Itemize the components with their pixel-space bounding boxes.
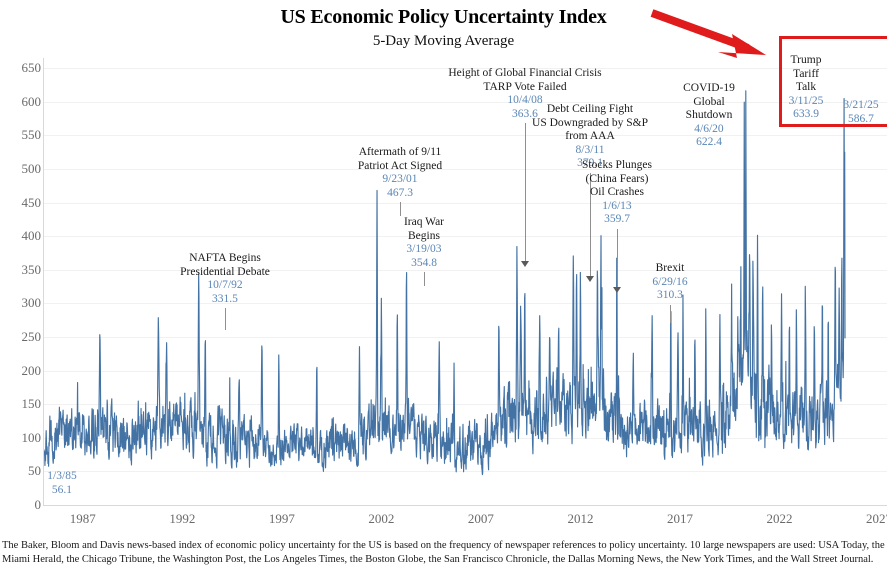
y-axis-tick-label: 350 <box>3 262 41 278</box>
annotation-label: COVID-19 <box>683 82 735 96</box>
annotation-stem <box>617 229 618 287</box>
annotation-label: Height of Global Financial Crisis <box>448 67 601 81</box>
annotation-arrowhead-icon <box>521 261 529 267</box>
annotation-label: Begins <box>404 230 444 244</box>
x-axis-tick-label: 1997 <box>269 511 295 527</box>
annotation-label: NAFTA Begins <box>180 252 270 266</box>
annotation-label: Stocks Plunges <box>582 159 652 173</box>
annotation-iraq-war-begins: Iraq WarBegins3/19/03354.8 <box>404 216 444 270</box>
x-axis-tick-label: 2007 <box>468 511 494 527</box>
y-axis-tick-label: 300 <box>3 295 41 311</box>
annotation-value: 354.8 <box>404 257 444 271</box>
annotation-covid-19-global-shutdown: COVID-19GlobalShutdown4/6/20622.4 <box>683 82 735 150</box>
x-axis-tick-label: 2017 <box>667 511 693 527</box>
annotation-date: 6/29/16 <box>652 276 687 290</box>
annotation-date: 9/23/01 <box>358 173 442 187</box>
annotation-stem <box>424 272 425 286</box>
annotation-stem <box>670 305 671 323</box>
annotation-stem <box>525 123 526 261</box>
annotation-stem <box>400 202 401 216</box>
y-axis-tick-label: 150 <box>3 396 41 412</box>
annotation-label: TARP Vote Failed <box>448 81 601 95</box>
annotation-stem <box>225 308 226 330</box>
annotation-arrowhead-icon <box>613 287 621 293</box>
y-axis-tick-label: 550 <box>3 127 41 143</box>
annotation-value: 467.3 <box>358 187 442 201</box>
annotation-value: 331.5 <box>180 293 270 307</box>
x-axis-tick-label: 1992 <box>169 511 195 527</box>
plot-area <box>43 58 887 505</box>
annotation-date: 8/3/11 <box>532 144 648 158</box>
y-axis-tick-label: 650 <box>3 60 41 76</box>
annotation-label: from AAA <box>532 130 648 144</box>
annotation-date: 1/3/85 <box>47 470 76 484</box>
annotation-label: (China Fears) <box>582 173 652 187</box>
y-axis-tick-label: 450 <box>3 195 41 211</box>
annotation-date: 3/19/03 <box>404 243 444 257</box>
annotation-stocks-plunge-china-oil: Stocks Plunges(China Fears)Oil Crashes1/… <box>582 159 652 227</box>
annotation-arrowhead-icon <box>586 276 594 282</box>
annotation-label: Shutdown <box>683 109 735 123</box>
annotation-date: 10/7/92 <box>180 279 270 293</box>
y-axis-tick-label: 600 <box>3 94 41 110</box>
y-axis: 050100150200250300350400450500550600650 <box>0 0 41 582</box>
y-axis-tick-label: 0 <box>3 497 41 513</box>
annotation-label: Debt Ceiling Fight <box>532 103 648 117</box>
annotation-label: Oil Crashes <box>582 186 652 200</box>
annotation-label: Aftermath of 9/11 <box>358 146 442 160</box>
y-axis-tick-label: 400 <box>3 228 41 244</box>
x-axis-tick-label: 1987 <box>70 511 96 527</box>
annotation-date: 4/6/20 <box>683 123 735 137</box>
x-axis-tick-label: 2022 <box>767 511 793 527</box>
annotation-label: Brexit <box>652 262 687 276</box>
y-axis-tick-label: 50 <box>3 463 41 479</box>
annotation-aftermath-911-patriot-act: Aftermath of 9/11Patriot Act Signed9/23/… <box>358 146 442 200</box>
x-axis-tick-label: 2002 <box>368 511 394 527</box>
trump-tariff-callout-box <box>779 36 887 127</box>
annotation-nafta-presidential-debate: NAFTA BeginsPresidential Debate10/7/9233… <box>180 252 270 306</box>
annotation-value: 359.7 <box>582 213 652 227</box>
annotation-first-observation: 1/3/8556.1 <box>47 470 76 497</box>
annotation-label: Global <box>683 96 735 110</box>
x-axis-tick-label: 2027 <box>866 511 887 527</box>
annotation-brexit: Brexit6/29/16310.3 <box>652 262 687 303</box>
series-line <box>44 58 887 505</box>
annotation-value: 56.1 <box>47 484 76 498</box>
chart-screenshot: US Economic Policy Uncertainty Index 5-D… <box>0 0 887 582</box>
x-axis-tick-label: 2012 <box>567 511 593 527</box>
annotation-label: Patriot Act Signed <box>358 160 442 174</box>
y-axis-tick-label: 500 <box>3 161 41 177</box>
annotation-value: 310.3 <box>652 289 687 303</box>
annotation-label: Iraq War <box>404 216 444 230</box>
y-axis-tick-label: 250 <box>3 329 41 345</box>
annotation-date: 1/6/13 <box>582 200 652 214</box>
annotation-label: Presidential Debate <box>180 266 270 280</box>
x-axis-line <box>43 505 887 506</box>
annotation-label: US Downgraded by S&P <box>532 117 648 131</box>
y-axis-tick-label: 200 <box>3 363 41 379</box>
annotation-value: 622.4 <box>683 136 735 150</box>
footnote-text: The Baker, Bloom and Davis news-based in… <box>2 539 885 567</box>
y-axis-tick-label: 100 <box>3 430 41 446</box>
